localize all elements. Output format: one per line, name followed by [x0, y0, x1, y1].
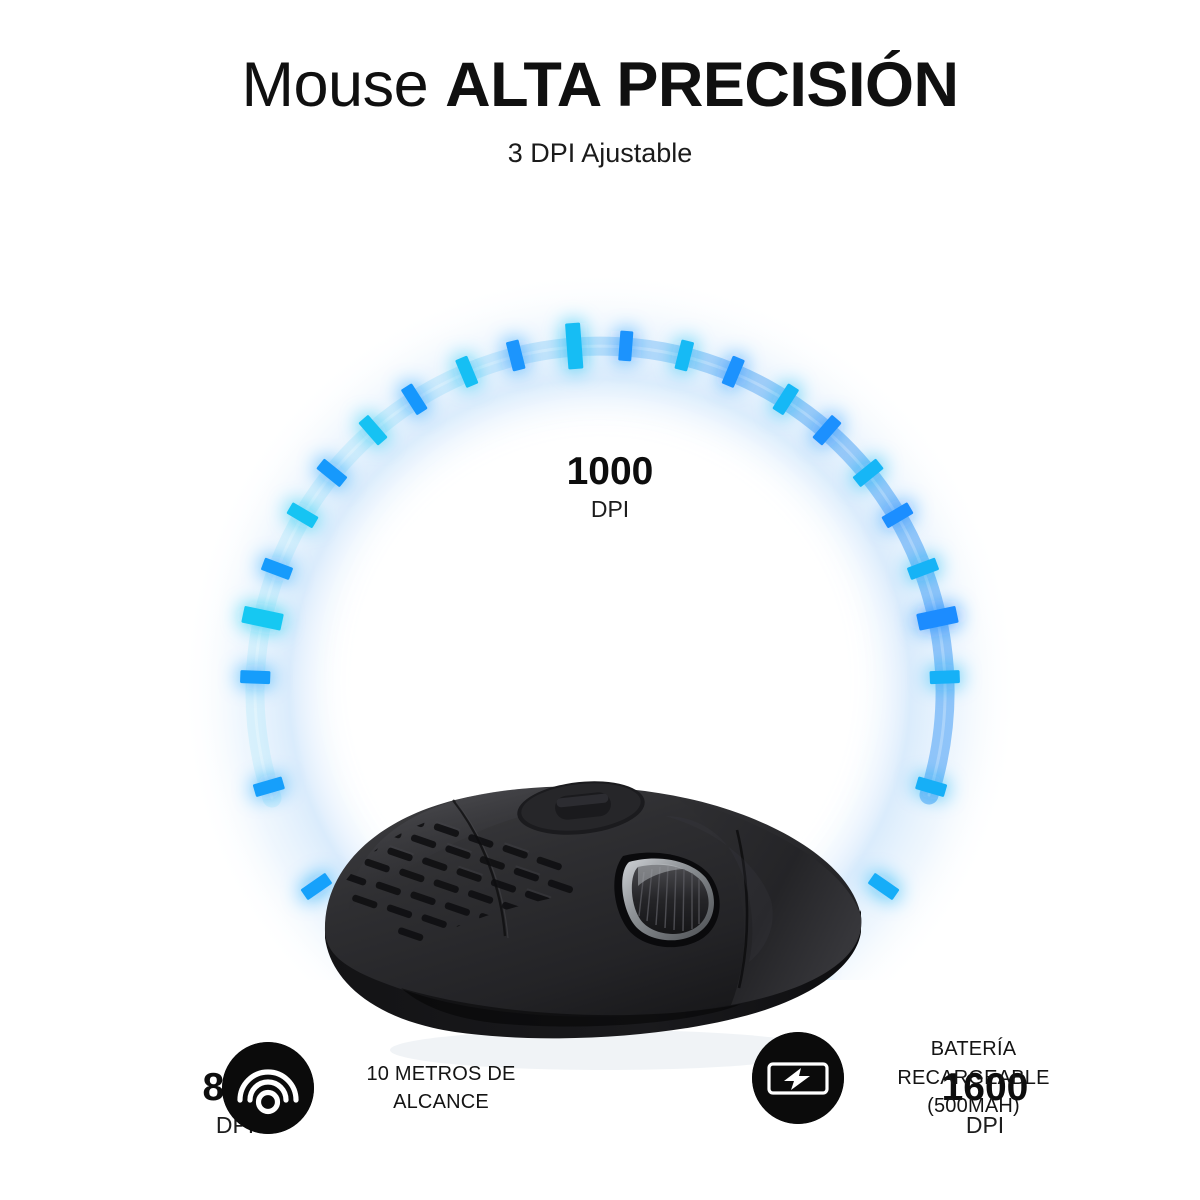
page-title: Mouse ALTA PRECISIÓN [0, 52, 1200, 119]
dpi-marker-1000-unit: DPI [505, 498, 715, 521]
page-subtitle: 3 DPI Ajustable [0, 138, 1200, 169]
wifi-range-icon [222, 1042, 314, 1134]
gauge-tick [930, 670, 960, 684]
dpi-gauge-stage: 1000 DPI 800 DPI 1600 DPI [0, 210, 1200, 980]
header: Mouse ALTA PRECISIÓN 3 DPI Ajustable [0, 0, 1200, 169]
feature-battery: BATERÍA RECARGEABLE (500MAH) [752, 1032, 1081, 1124]
battery-charge-icon [752, 1032, 844, 1124]
title-bold-part: ALTA PRECISIÓN [445, 50, 958, 120]
dpi-marker-1000-value: 1000 [505, 452, 715, 491]
title-regular-part: Mouse [242, 50, 446, 120]
feature-battery-label: BATERÍA RECARGEABLE (500MAH) [866, 1035, 1081, 1120]
feature-range: 10 METROS DE ALCANCE [222, 1042, 546, 1134]
dpi-marker-1000: 1000 DPI [505, 452, 715, 521]
feature-range-label: 10 METROS DE ALCANCE [336, 1060, 546, 1117]
feature-row: 10 METROS DE ALCANCE BATERÍA RECARGEABLE… [0, 1020, 1200, 1190]
gauge-tick [618, 331, 633, 362]
gauge-tick [240, 670, 270, 684]
